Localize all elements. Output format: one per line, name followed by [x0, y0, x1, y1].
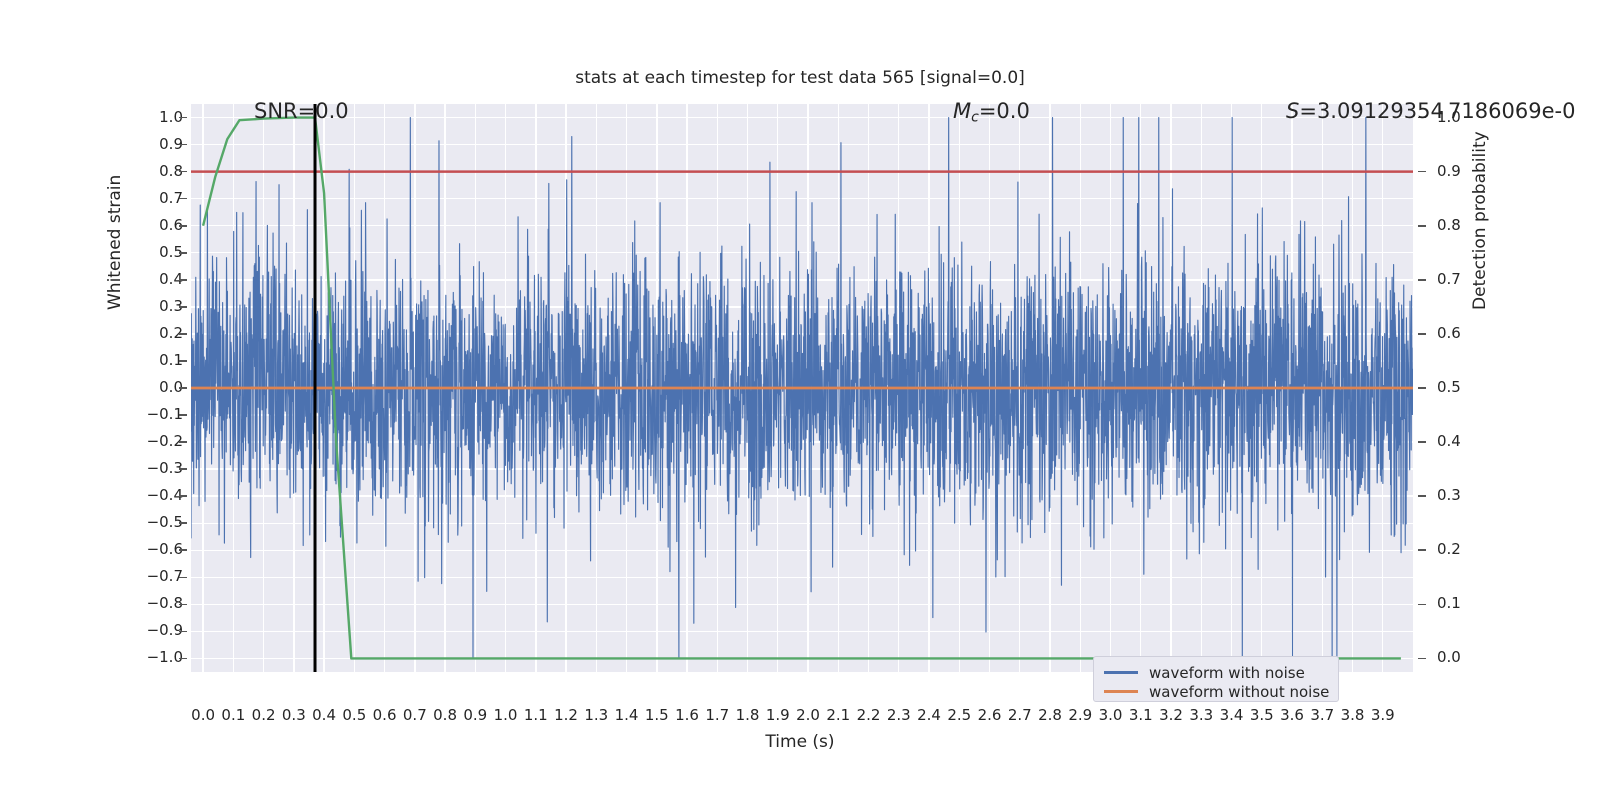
plot-area [191, 104, 1413, 672]
y-tick-label-right: 0.1 [1437, 594, 1507, 612]
y-tick-label-left: −1.0 [123, 648, 183, 666]
data-series-layer [191, 104, 1413, 672]
y-tick-mark-right [1418, 495, 1426, 497]
y-axis-label-right: Detection probability [1470, 286, 1490, 310]
y-tick-label-left: −0.3 [123, 459, 183, 477]
chirp-mass-subscript: c [971, 110, 979, 126]
y-tick-mark-left [179, 468, 187, 470]
y-tick-mark-left [179, 495, 187, 497]
score-value: =3.09129354 7186069e-0 [1299, 99, 1575, 123]
y-tick-mark-left [179, 604, 187, 606]
y-tick-mark-right [1418, 225, 1426, 227]
y-tick-mark-right [1418, 441, 1426, 443]
y-tick-label-right: 0.4 [1437, 432, 1507, 450]
y-tick-mark-left [179, 117, 187, 119]
y-tick-mark-left [179, 441, 187, 443]
y-tick-mark-left [179, 522, 187, 524]
y-tick-mark-right [1418, 333, 1426, 335]
annotation-snr: SNR=0.0 [254, 99, 349, 123]
y-tick-mark-right [1418, 279, 1426, 281]
y-tick-mark-right [1418, 604, 1426, 606]
y-tick-label-right: 0.9 [1437, 162, 1507, 180]
y-tick-label-left: −0.8 [123, 594, 183, 612]
y-tick-mark-left [179, 414, 187, 416]
y-tick-label-right: 0.0 [1437, 648, 1507, 666]
y-tick-label-left: 0.0 [123, 378, 183, 396]
y-tick-mark-left [179, 333, 187, 335]
chirp-mass-symbol: M [953, 99, 971, 123]
y-tick-mark-right [1418, 549, 1426, 551]
y-tick-label-right: 0.2 [1437, 540, 1507, 558]
y-tick-mark-left [179, 144, 187, 146]
y-axis-label-left: Whitened strain [105, 286, 125, 310]
page-title: stats at each timestep for test data 565… [0, 68, 1600, 88]
y-tick-label-left: 0.1 [123, 351, 183, 369]
x-tick-label: 3.9 [1361, 706, 1405, 724]
y-tick-mark-left [179, 360, 187, 362]
legend-label: waveform without noise [1149, 683, 1329, 701]
y-tick-label-left: −0.5 [123, 513, 183, 531]
legend-item[interactable]: waveform without noise [1104, 682, 1328, 701]
y-tick-label-left: −0.1 [123, 405, 183, 423]
x-axis-label: Time (s) [0, 732, 1600, 752]
legend-swatch-line-icon [1104, 671, 1138, 674]
y-tick-mark-right [1418, 387, 1426, 389]
y-tick-label-right: 0.7 [1437, 270, 1507, 288]
y-tick-mark-left [179, 549, 187, 551]
y-tick-label-left: 0.4 [123, 270, 183, 288]
y-tick-label-right: 0.8 [1437, 216, 1507, 234]
legend-item[interactable]: waveform with noise [1104, 663, 1328, 682]
legend-label: waveform with noise [1149, 664, 1305, 682]
annotation-score: S=3.09129354 7186069e-0 [1286, 99, 1575, 123]
y-tick-mark-left [179, 252, 187, 254]
y-tick-label-left: 0.8 [123, 162, 183, 180]
y-tick-mark-left [179, 225, 187, 227]
figure-canvas: stats at each timestep for test data 565… [0, 0, 1600, 800]
y-tick-mark-left [179, 577, 187, 579]
y-tick-mark-right [1418, 171, 1426, 173]
y-tick-label-left: 0.3 [123, 297, 183, 315]
y-tick-label-right: 0.6 [1437, 324, 1507, 342]
score-symbol: S [1286, 99, 1299, 123]
y-tick-label-right: 0.3 [1437, 486, 1507, 504]
y-tick-label-left: −0.7 [123, 567, 183, 585]
y-tick-label-left: −0.4 [123, 486, 183, 504]
y-tick-label-left: 1.0 [123, 108, 183, 126]
y-tick-label-left: −0.2 [123, 432, 183, 450]
y-tick-mark-left [179, 631, 187, 633]
legend: waveform with noisewaveform without nois… [1093, 656, 1339, 702]
y-tick-label-left: 0.5 [123, 243, 183, 261]
legend-swatch-line-icon [1104, 690, 1138, 693]
annotation-chirp-mass: Mc=0.0 [953, 99, 1030, 126]
y-tick-label-right: 0.5 [1437, 378, 1507, 396]
y-tick-mark-left [179, 279, 187, 281]
y-tick-label-left: 0.7 [123, 189, 183, 207]
y-tick-label-left: −0.6 [123, 540, 183, 558]
y-tick-label-left: −0.9 [123, 621, 183, 639]
y-tick-mark-left [179, 387, 187, 389]
chirp-mass-value: =0.0 [979, 99, 1030, 123]
y-tick-mark-left [179, 171, 187, 173]
y-tick-mark-left [179, 658, 187, 660]
y-tick-label-left: 0.9 [123, 135, 183, 153]
y-tick-mark-left [179, 198, 187, 200]
y-tick-mark-left [179, 306, 187, 308]
y-tick-label-left: 0.6 [123, 216, 183, 234]
y-tick-label-left: 0.2 [123, 324, 183, 342]
y-tick-mark-right [1418, 658, 1426, 660]
